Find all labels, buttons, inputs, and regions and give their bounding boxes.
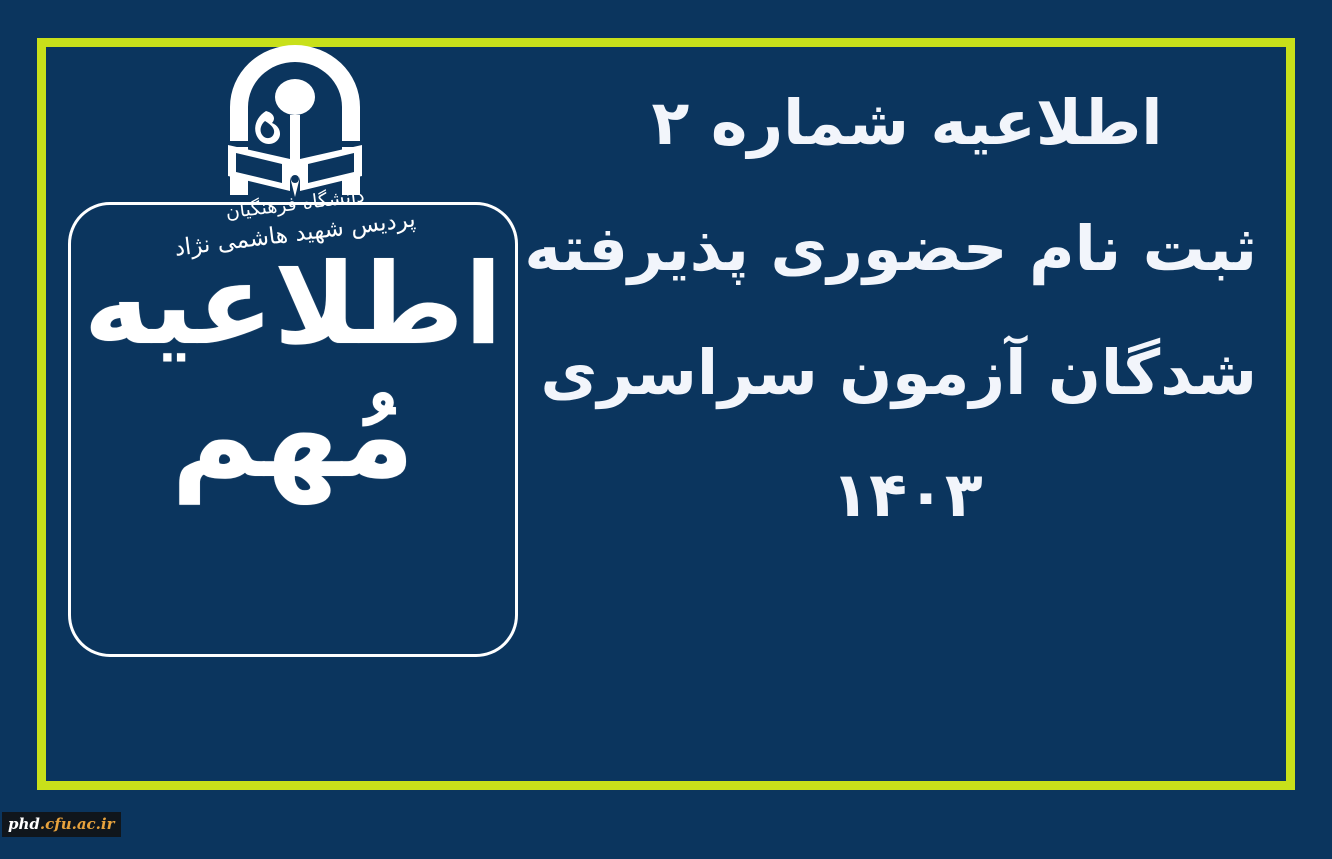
announcement-line-1: اطلاعیه شماره ۲ xyxy=(557,92,1257,154)
site-watermark: phd.cfu.ac.ir xyxy=(2,812,121,837)
logo-and-panel-column: دانشگاه فرهنگیان پردیس شهید هاشمی نژاد ا… xyxy=(55,45,535,685)
announcement-line-2: ثبت نام حضوری پذیرفته xyxy=(557,218,1257,280)
announcement-text-column: اطلاعیه شماره ۲ ثبت نام حضوری پذیرفته شد… xyxy=(557,92,1257,732)
watermark-suffix: .cfu.ac.ir xyxy=(40,815,115,833)
farhangian-university-emblem-icon xyxy=(220,45,370,205)
notice-word-mohem: مُهم xyxy=(68,372,518,499)
notice-word-etelaieh: اطلاعیه xyxy=(68,245,518,366)
announcement-line-4-year: ۱۴۰۳ xyxy=(557,464,1257,526)
watermark-prefix: phd xyxy=(8,815,40,833)
announcement-line-3: شدگان آزمون سراسری xyxy=(557,342,1257,404)
important-notice-text: اطلاعیه مُهم xyxy=(68,245,518,499)
announcement-poster: دانشگاه فرهنگیان پردیس شهید هاشمی نژاد ا… xyxy=(0,0,1332,859)
